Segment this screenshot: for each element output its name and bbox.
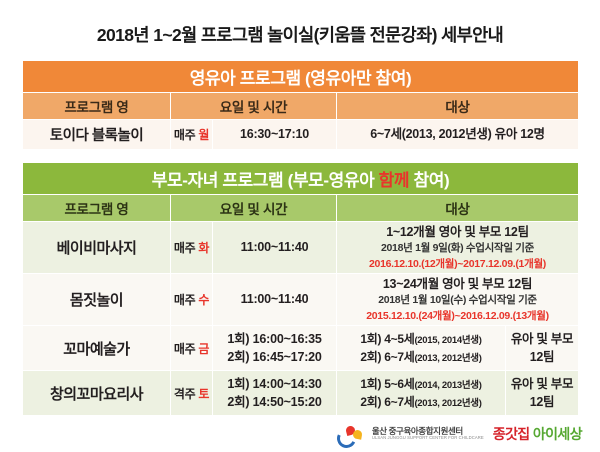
target-line-note: (2013, 2012년생)	[414, 353, 481, 364]
center-name-block: 울산 중구육아종합지원센터 ULSAN JUNGGU SUPPORT CENTE…	[372, 427, 484, 442]
day-prefix: 격주	[174, 387, 195, 401]
day-prefix: 매주	[174, 128, 195, 142]
day-label: 토	[198, 387, 209, 401]
header-program-name: 프로그램 영	[23, 195, 171, 222]
target-date-range: 2015.12.10.(24개월)~2016.12.09.(13개월)	[337, 309, 578, 324]
infant-header-row: 프로그램 영 요일 및 시간 대상	[23, 93, 579, 120]
time-line: 1회) 16:00~16:35	[213, 330, 336, 348]
table-row: 몸짓놀이 매주 수 11:00~11:40 13~24개월 영아 및 부모 12…	[23, 274, 579, 326]
footer-logos: 울산 중구육아종합지원센터 ULSAN JUNGGU SUPPORT CENTE…	[337, 424, 582, 444]
center-name-english: ULSAN JUNGGU SUPPORT CENTER FOR CHILDCAR…	[372, 436, 484, 441]
program-day-cell: 격주 토	[171, 371, 213, 416]
time-line: 11:00~11:40	[213, 238, 336, 256]
day-prefix: 매주	[174, 241, 195, 255]
table-row: 베이비마사지 매주 화 11:00~11:40 1~12개월 영아 및 부모 1…	[23, 222, 579, 274]
header-program-name: 프로그램 영	[23, 93, 171, 120]
target-line-note: (2015, 2014년생)	[414, 335, 481, 346]
brand-second-word: 아이세상	[533, 426, 582, 442]
table-row: 창의꼬마요리사 격주 토 1회) 14:00~14:30 2회) 14:50~1…	[23, 371, 579, 416]
day-label: 화	[198, 241, 209, 255]
program-name-cell: 베이비마사지	[23, 222, 171, 274]
program-target-cell: 1회) 4~5세(2015, 2014년생) 2회) 6~7세(2013, 20…	[337, 326, 506, 371]
target-main: 13~24개월 영아 및 부모 12팀	[337, 275, 578, 293]
teams-line: 유아 및 부모	[506, 330, 578, 348]
schedule-sheet: 영유아 프로그램 (영유아만 참여) 프로그램 영 요일 및 시간 대상 토이다…	[22, 60, 578, 416]
program-day-cell: 매주 화	[171, 222, 213, 274]
target-line: 1회) 4~5세(2015, 2014년생)	[337, 330, 505, 348]
band-text-highlight: 함께	[379, 171, 409, 190]
table-row: 토이다 블록놀이 매주 월 16:30~17:10 6~7세(2013, 201…	[23, 120, 579, 150]
target-line-label: 2회) 6~7세	[360, 395, 414, 409]
time-line: 2회) 14:50~15:20	[213, 393, 336, 411]
day-label: 월	[198, 128, 209, 142]
program-time-cell: 16:30~17:10	[213, 120, 337, 150]
header-day-time: 요일 및 시간	[171, 93, 337, 120]
program-target-cell: 1~12개월 영아 및 부모 12팀 2018년 1월 9일(화) 수업시작일 …	[337, 222, 579, 274]
program-name-cell: 꼬마예술가	[23, 326, 171, 371]
header-target: 대상	[337, 195, 579, 222]
target-line-note: (2013, 2012년생)	[414, 398, 481, 409]
day-prefix: 매주	[174, 342, 195, 356]
day-label: 금	[198, 342, 209, 356]
target-main: 1~12개월 영아 및 부모 12팀	[337, 223, 578, 241]
poster-page: 2018년 1~2월 프로그램 놀이실(키움뜰 전문강좌) 세부안내 영유아 프…	[0, 0, 600, 450]
table-row: 꼬마예술가 매주 금 1회) 16:00~16:35 2회) 16:45~17:…	[23, 326, 579, 371]
parent-child-header-row: 프로그램 영 요일 및 시간 대상	[23, 195, 579, 222]
target-line: 1회) 5~6세(2014, 2013년생)	[337, 375, 505, 393]
infant-program-table: 영유아 프로그램 (영유아만 참여) 프로그램 영 요일 및 시간 대상 토이다…	[22, 60, 579, 150]
day-prefix: 매주	[174, 293, 195, 307]
teams-line: 12팀	[506, 348, 578, 366]
program-teams-cell: 유아 및 부모 12팀	[506, 371, 579, 416]
header-target: 대상	[337, 93, 579, 120]
program-target-cell: 13~24개월 영아 및 부모 12팀 2018년 1월 10일(수) 수업시작…	[337, 274, 579, 326]
infant-section-band: 영유아 프로그램 (영유아만 참여)	[23, 61, 579, 93]
header-day-time: 요일 및 시간	[171, 195, 337, 222]
program-day-cell: 매주 월	[171, 120, 213, 150]
band-text-before: 부모-자녀 프로그램 (부모-영유아	[152, 171, 379, 190]
time-line: 11:00~11:40	[213, 290, 336, 308]
time-line: 2회) 16:45~17:20	[213, 348, 336, 366]
program-name-cell: 창의꼬마요리사	[23, 371, 171, 416]
day-label: 수	[198, 293, 209, 307]
program-day-cell: 매주 수	[171, 274, 213, 326]
time-line: 16:30~17:10	[213, 125, 336, 143]
target-line-note: (2014, 2013년생)	[414, 380, 481, 391]
target-line-label: 1회) 4~5세	[360, 332, 414, 346]
footer: 울산 중구육아종합지원센터 ULSAN JUNGGU SUPPORT CENTE…	[0, 424, 600, 452]
program-name-cell: 토이다 블록놀이	[23, 120, 171, 150]
childcare-center-logo-icon	[337, 425, 363, 443]
target-line-label: 1회) 5~6세	[360, 377, 414, 391]
program-name-cell: 몸짓놀이	[23, 274, 171, 326]
brand-first-word: 종갓집	[493, 426, 530, 442]
band-text-after: 참여)	[409, 171, 449, 190]
parent-child-program-table: 부모-자녀 프로그램 (부모-영유아 함께 참여) 프로그램 영 요일 및 시간…	[22, 162, 579, 416]
program-target-cell: 1회) 5~6세(2014, 2013년생) 2회) 6~7세(2013, 20…	[337, 371, 506, 416]
target-date-range: 2016.12.10.(12개월)~2017.12.09.(1개월)	[337, 257, 578, 272]
brand-logo: 종갓집 아이세상	[493, 424, 582, 444]
target-line: 2회) 6~7세(2013, 2012년생)	[337, 348, 505, 366]
program-time-cell: 11:00~11:40	[213, 274, 337, 326]
target-main: 6~7세(2013, 2012년생) 유아 12명	[337, 125, 578, 143]
parent-child-section-band: 부모-자녀 프로그램 (부모-영유아 함께 참여)	[23, 163, 579, 195]
program-time-cell: 11:00~11:40	[213, 222, 337, 274]
teams-line: 유아 및 부모	[506, 375, 578, 393]
target-note: 2018년 1월 9일(화) 수업시작일 기준	[337, 241, 578, 257]
target-line: 2회) 6~7세(2013, 2012년생)	[337, 393, 505, 411]
page-title: 2018년 1~2월 프로그램 놀이실(키움뜰 전문강좌) 세부안내	[0, 22, 600, 47]
target-line-label: 2회) 6~7세	[360, 350, 414, 364]
program-target-cell: 6~7세(2013, 2012년생) 유아 12명	[337, 120, 579, 150]
teams-line: 12팀	[506, 393, 578, 411]
program-time-cell: 1회) 16:00~16:35 2회) 16:45~17:20	[213, 326, 337, 371]
program-day-cell: 매주 금	[171, 326, 213, 371]
target-note: 2018년 1월 10일(수) 수업시작일 기준	[337, 293, 578, 309]
section-gap	[22, 150, 578, 162]
program-time-cell: 1회) 14:00~14:30 2회) 14:50~15:20	[213, 371, 337, 416]
program-teams-cell: 유아 및 부모 12팀	[506, 326, 579, 371]
time-line: 1회) 14:00~14:30	[213, 375, 336, 393]
